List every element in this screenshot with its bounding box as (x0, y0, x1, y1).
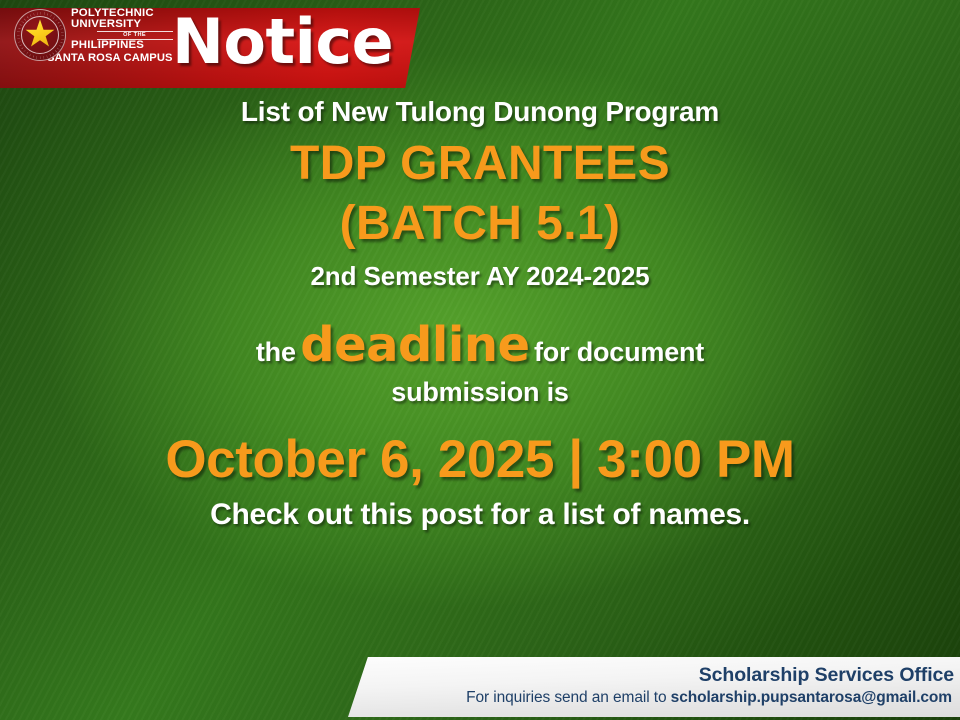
logo-line-university: UNIVERSITY (71, 19, 173, 30)
inquiry-prefix: For inquiries send an email to (466, 689, 671, 706)
office-name: Scholarship Services Office (348, 664, 954, 687)
submission-line: submission is (0, 376, 960, 409)
deadline-emphasis: deadline (300, 317, 529, 373)
batch-heading: (BATCH 5.1) (0, 194, 960, 254)
notice-body: List of New Tulong Dunong Program TDP GR… (0, 96, 960, 532)
subtitle-line: List of New Tulong Dunong Program (0, 96, 960, 128)
deadline-suffix: for document (534, 337, 704, 367)
checkout-line: Check out this post for a list of names. (0, 498, 960, 532)
semester-line: 2nd Semester AY 2024-2025 (0, 261, 960, 292)
page-title: Notice (172, 9, 393, 76)
pup-seal-icon (14, 9, 66, 61)
contact-email[interactable]: scholarship.pupsantarosa@gmail.com (671, 689, 952, 706)
inquiry-line: For inquiries send an email to scholarsh… (348, 689, 954, 708)
deadline-prefix: the (256, 337, 296, 367)
notice-poster: POLYTECHNIC UNIVERSITY OF THE PHILIPPINE… (0, 0, 960, 720)
deadline-block: the deadline for document submission is (0, 316, 960, 409)
pup-logo-text: POLYTECHNIC UNIVERSITY OF THE PHILIPPINE… (71, 6, 173, 64)
logo-line-philippines: PHILIPPINES (71, 40, 173, 51)
grantees-heading: TDP GRANTEES (0, 134, 960, 194)
deadline-date: October 6, 2025 | 3:00 PM (0, 431, 960, 489)
footer-banner: Scholarship Services Office For inquirie… (348, 657, 960, 717)
pup-logo: POLYTECHNIC UNIVERSITY OF THE PHILIPPINE… (14, 6, 162, 78)
